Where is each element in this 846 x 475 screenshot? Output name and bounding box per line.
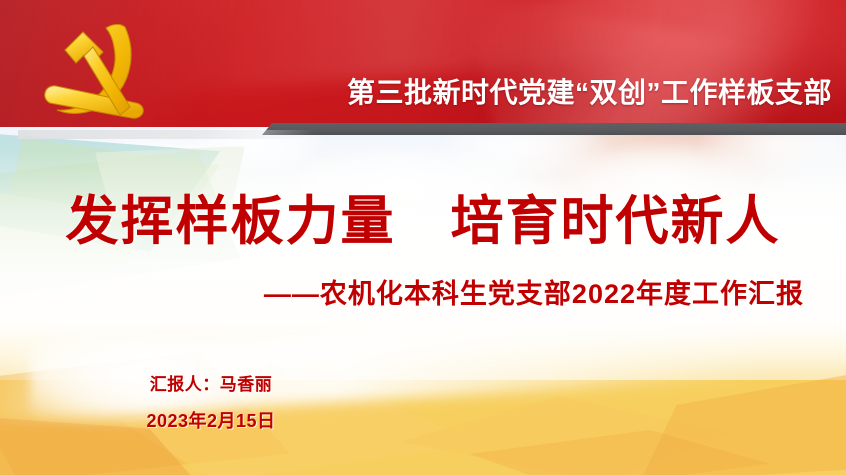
banner-light-strip	[18, 130, 314, 139]
hammer-and-sickle-emblem	[24, 11, 152, 127]
presentation-date: 2023年2月15日	[0, 412, 422, 430]
banner-gray-bar	[262, 123, 846, 135]
banner-title: 第三批新时代党建“双创”工作样板支部	[0, 79, 832, 107]
presentation-cover-slide: 第三批新时代党建“双创”工作样板支部 发挥样板力量 培育时代新人 ——农机化本科…	[0, 0, 846, 475]
page-title: 发挥样板力量 培育时代新人	[0, 192, 846, 251]
page-subtitle: ——农机化本科生党支部2022年度工作汇报	[0, 278, 804, 310]
presenter-name: 汇报人：马香丽	[0, 376, 422, 393]
